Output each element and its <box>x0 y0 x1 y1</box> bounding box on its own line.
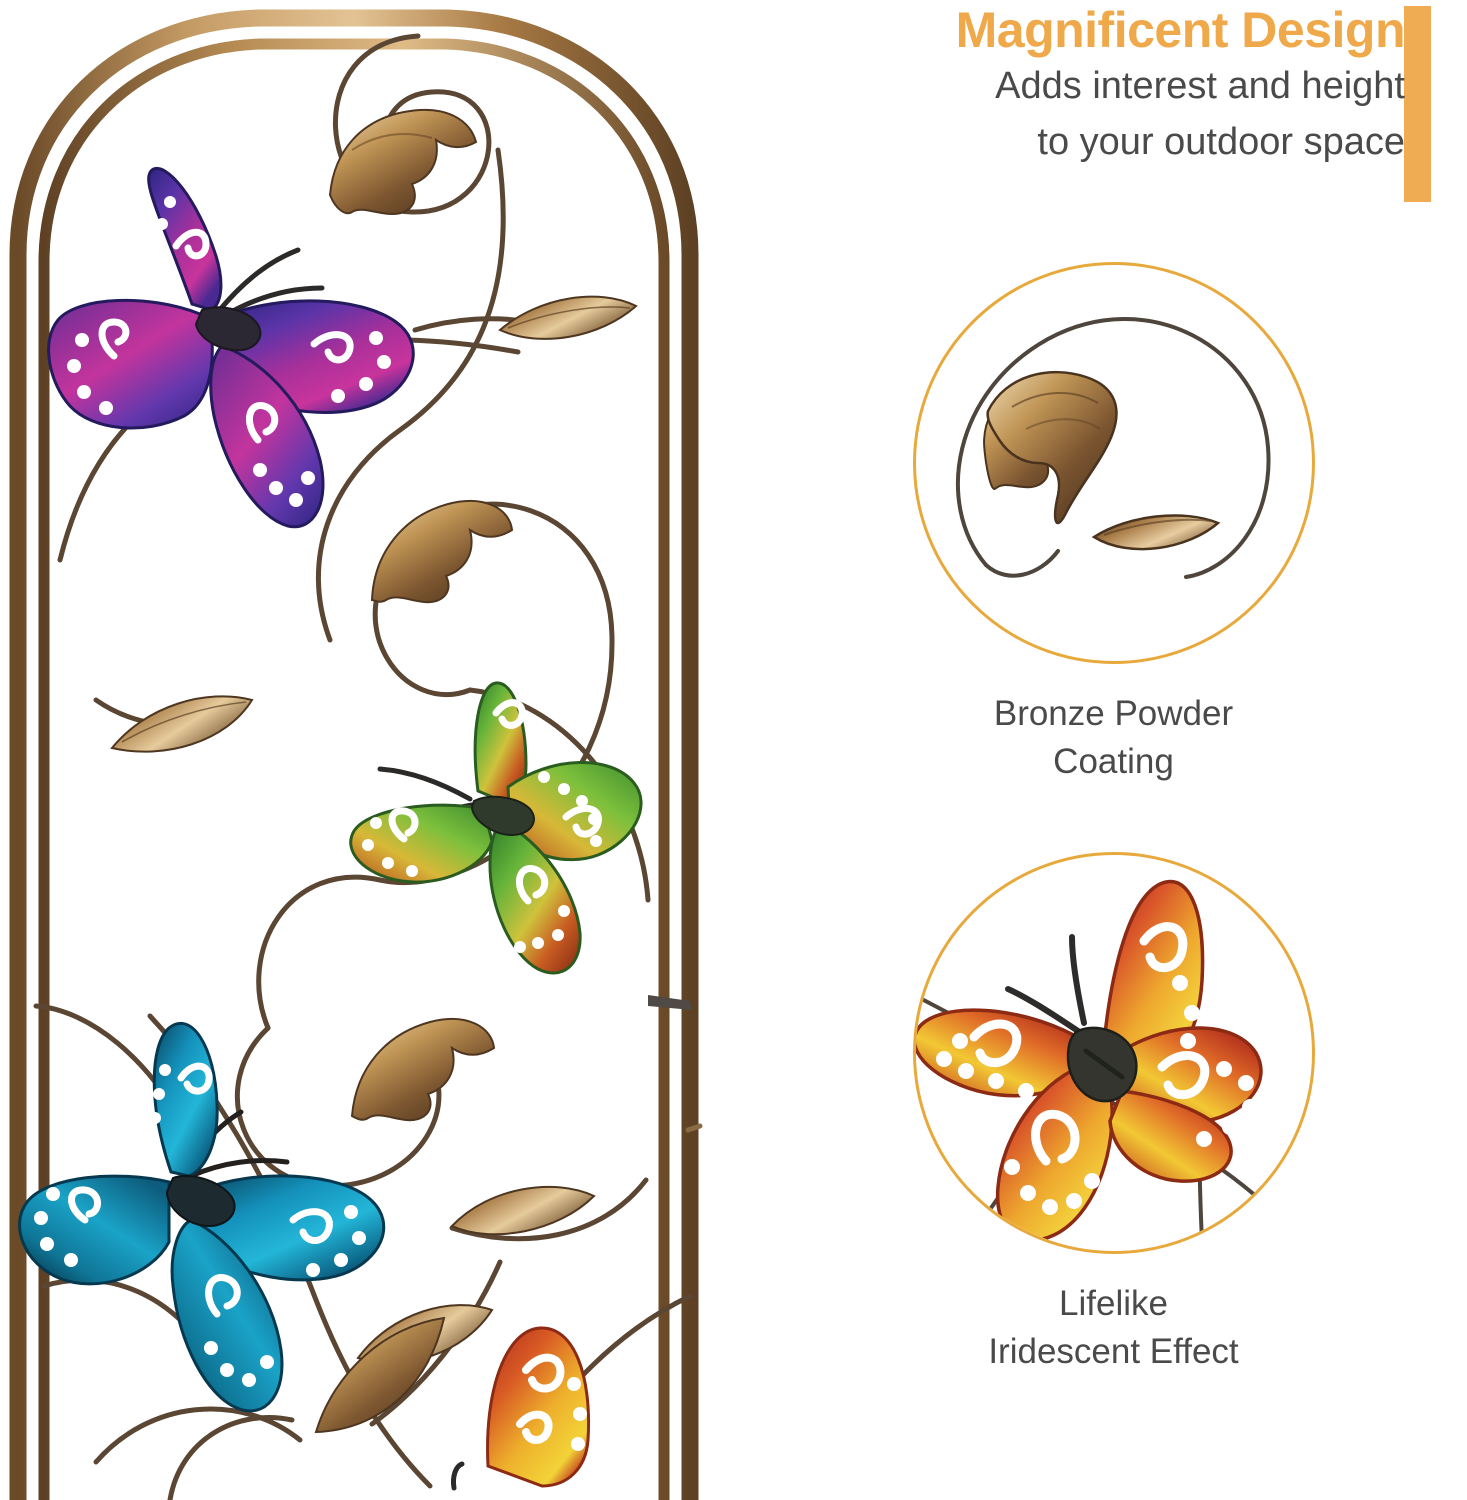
butterfly-blue <box>20 1023 384 1411</box>
page-title: Magnificent Design <box>793 4 1405 57</box>
product-image-panel <box>0 0 760 1500</box>
butterfly-purple <box>49 168 414 526</box>
bronze-scroll-leaf-detail-illustration <box>916 265 1312 661</box>
feature-circle-butterfly-detail <box>913 852 1315 1254</box>
feature-label-line-2: Coating <box>760 738 1467 786</box>
trellis-product-illustration <box>0 0 760 1500</box>
feature-circle-bronze-detail <box>913 262 1315 664</box>
feature-label-line-1: Lifelike <box>760 1280 1467 1328</box>
orange-accent-bar <box>1404 6 1431 202</box>
headline-subline-2: to your outdoor space <box>793 117 1405 169</box>
feature-label-line-2: Iridescent Effect <box>760 1328 1467 1376</box>
orange-yellow-butterfly-detail-illustration <box>916 855 1312 1251</box>
feature-label-iridescent-effect: Lifelike Iridescent Effect <box>760 1280 1467 1375</box>
feature-label-line-1: Bronze Powder <box>760 690 1467 738</box>
feature-lifelike-iridescent-effect: Lifelike Iridescent Effect <box>760 852 1467 1375</box>
feature-label-bronze-coating: Bronze Powder Coating <box>760 690 1467 785</box>
marketing-copy-panel: Magnificent Design Adds interest and hei… <box>760 0 1467 1500</box>
headline-block: Magnificent Design Adds interest and hei… <box>793 4 1405 168</box>
headline-subline-1: Adds interest and height <box>793 61 1405 113</box>
butterfly-red-bottom <box>453 1328 588 1488</box>
feature-bronze-powder-coating: Bronze Powder Coating <box>760 262 1467 785</box>
